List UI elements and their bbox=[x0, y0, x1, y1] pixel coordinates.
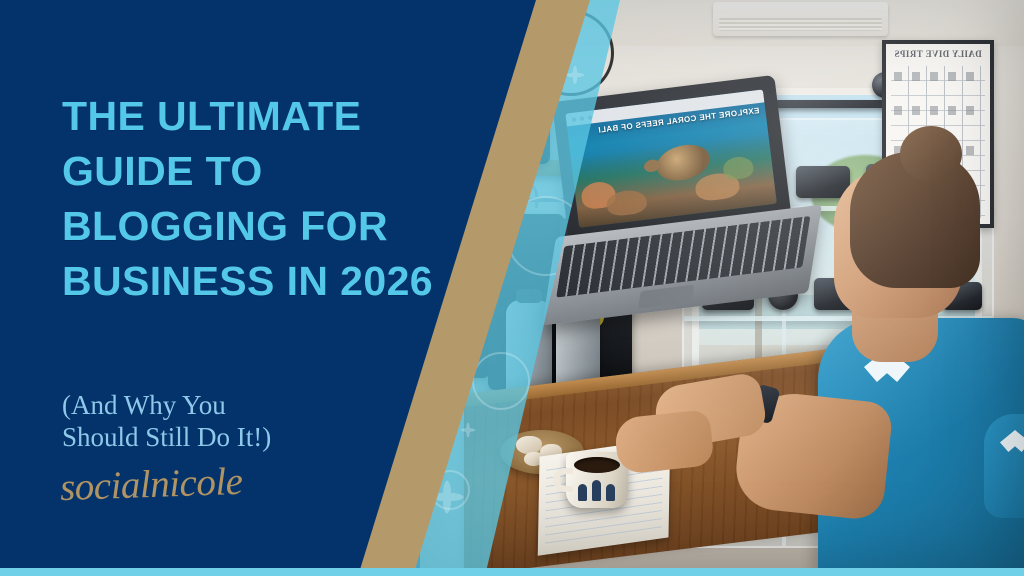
subtitle: (And Why You Should Still Do It!) bbox=[62, 389, 392, 453]
air-conditioner bbox=[713, 2, 888, 36]
person-hand-left bbox=[613, 409, 714, 475]
whiteboard-title: DAILY DIVE TRIPS bbox=[886, 49, 990, 59]
laptop-screen: EXPLORE THE CORAL REEFS OF BALI bbox=[565, 89, 777, 227]
page-title: THE ULTIMATE GUIDE TO BLOGGING FOR BUSIN… bbox=[62, 89, 462, 309]
bottom-accent-bar bbox=[0, 568, 1024, 576]
brand-logo: socialnicole bbox=[59, 459, 243, 510]
featured-image-canvas: DAILY DIVE TRIPS bbox=[0, 0, 1024, 576]
person-hair-bun bbox=[900, 126, 962, 182]
